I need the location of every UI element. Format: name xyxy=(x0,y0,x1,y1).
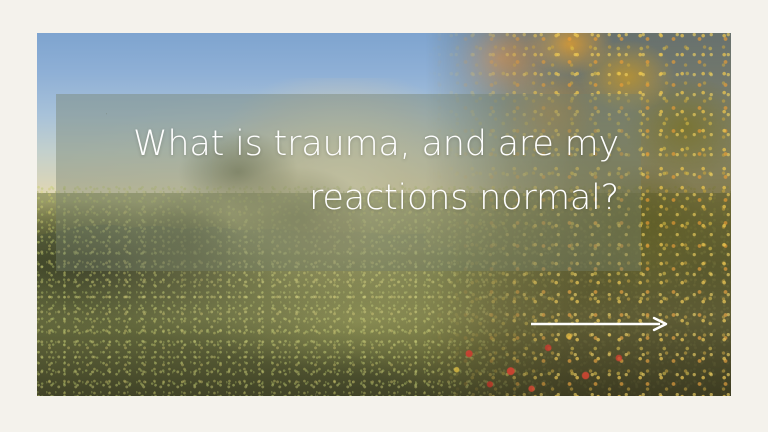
slide-canvas: What is trauma, and are my reactions nor… xyxy=(0,0,768,432)
page-title: What is trauma, and are my reactions nor… xyxy=(56,94,641,226)
arrow-right-icon xyxy=(530,315,670,333)
